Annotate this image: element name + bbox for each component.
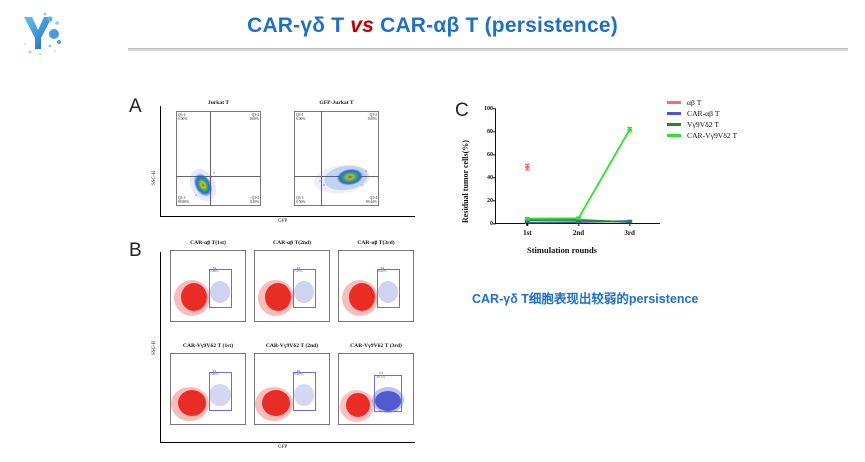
gate-p4 [293, 372, 317, 412]
flow-plot-title: CAR-αβ T(2nd) [254, 240, 330, 246]
chart-x-axis-label: Stimulation rounds [527, 245, 597, 255]
slide-caption: CAR-γδ T细胞表现出较弱的persistence [472, 288, 698, 307]
panel-b-label: B [129, 240, 142, 262]
legend-item: Vγ9Vδ2 T [667, 119, 737, 130]
gate-label: P4 7.60% [210, 370, 218, 377]
flow-plot-car-vd2-t-3rd: CAR-Vγ9Vδ2 T (3rd) P4 20.1% [338, 353, 414, 425]
flow-plot-title: CAR-αβ T(1st) [170, 240, 246, 246]
flow-plot-title: CAR-Vγ9Vδ2 T (3rd) [338, 343, 414, 349]
legend-label: Vγ9Vδ2 T [687, 120, 719, 129]
chart-plot-area: 0204060801001st2nd3rd [495, 109, 660, 224]
flow-plot-jurkat-t: Jurkat T Q3-1 0.00% Q3-2 0.00% Q3-3 99.8… [176, 111, 261, 206]
panel-a-x-axis-label: GFP [278, 219, 287, 224]
flow-plot-gfp-jurkat-t: GFP-Jurkat T Q3-1 0.06% Q3-2 0.00% Q3-3 … [294, 111, 379, 206]
panel-b-x-axis [160, 442, 415, 443]
panel-b-y-axis-label: SSC-H [152, 341, 157, 355]
gate-label: P4 7.89% [210, 267, 218, 274]
chart-y-tickmark [493, 154, 496, 155]
chart-y-tick: 100 [484, 106, 493, 112]
flow-plot-title: GFP-Jurkat T [294, 100, 379, 106]
flow-density-cloud [294, 111, 379, 206]
gate-p4 [209, 269, 232, 309]
chart-data-point [627, 128, 631, 131]
panel-a-y-axis [160, 106, 161, 216]
legend-item: CAR-αβ T [667, 108, 737, 119]
flow-plot-car-ab-t-1st: CAR-αβ T(1st) P4 7.89% [170, 250, 246, 322]
flow-plot-car-ab-t-2nd: CAR-αβ T(2nd) P4 7.05% [254, 250, 330, 322]
gate-p4 [374, 375, 401, 412]
flow-plot-title: CAR-αβ T(3rd) [338, 240, 414, 246]
chart-data-point [576, 217, 580, 220]
chart-y-tickmark [493, 177, 496, 178]
chart-y-tickmark [493, 108, 496, 109]
panel-b-y-axis [160, 252, 161, 442]
title-vs: vs [350, 14, 374, 37]
page-title: CAR-γδ T vs CAR-αβ T (persistence) [0, 14, 865, 38]
legend-item: αβ T [667, 97, 737, 108]
legend-swatch [667, 112, 681, 114]
legend-label: CAR-Vγ9Vδ2 T [687, 131, 737, 140]
panel-a-x-axis [160, 216, 415, 217]
panel-a-label: A [129, 96, 142, 118]
chart-x-tick: 3rd [624, 229, 635, 237]
chart-y-axis-label: Residual tumor cells(%) [461, 140, 470, 223]
chart-series-line [527, 130, 629, 219]
chart-series-layer [496, 109, 661, 224]
legend-swatch [667, 101, 681, 103]
legend-swatch [667, 134, 681, 136]
flow-density-cloud [176, 111, 261, 206]
flow-plot-title: CAR-Vγ9Vδ2 T (2nd) [254, 343, 330, 349]
flow-plot-title: Jurkat T [176, 100, 261, 106]
legend-label: CAR-αβ T [687, 109, 720, 118]
chart-legend: αβ TCAR-αβ TVγ9Vδ2 TCAR-Vγ9Vδ2 T [667, 97, 737, 141]
chart-data-point [525, 166, 529, 169]
flow-plot-car-vd2-t-1st: CAR-Vγ9Vδ2 T (1st) P4 7.60% [170, 353, 246, 425]
gate-p4 [293, 269, 316, 309]
title-text-post: CAR-αβ T (persistence) [374, 14, 618, 37]
chart-x-tickmark [578, 223, 579, 226]
chart-x-tickmark [527, 223, 528, 226]
flow-plot-title: CAR-Vγ9Vδ2 T (1st) [170, 343, 246, 349]
header-divider [128, 48, 848, 51]
flow-plot-car-ab-t-3rd: CAR-αβ T(3rd) P4 6.93% [338, 250, 414, 322]
gate-label: P4 7.05% [294, 267, 302, 274]
gate-p4 [209, 372, 233, 412]
chart-y-tickmark [493, 131, 496, 132]
legend-swatch [667, 123, 681, 125]
gate-label: P4 6.93% [378, 267, 386, 274]
title-text-pre: CAR-γδ T [247, 14, 350, 37]
gate-p4 [377, 269, 400, 309]
gate-label: P4 5.60% [294, 370, 302, 377]
chart-x-tick: 1st [523, 229, 532, 237]
chart-data-point [525, 217, 529, 220]
chart-x-tick: 2nd [573, 229, 584, 237]
chart-y-tickmark [493, 223, 496, 224]
legend-item: CAR-Vγ9Vδ2 T [667, 130, 737, 141]
panel-b-x-axis-label: GFP [278, 445, 287, 450]
chart-x-tickmark [629, 223, 630, 226]
legend-label: αβ T [687, 98, 701, 107]
gate-label: P4 20.1% [377, 372, 385, 379]
persistence-chart: Residual tumor cells(%) 0204060801001st2… [455, 95, 775, 260]
panel-a-y-axis-label: SSC-H [152, 171, 157, 185]
flow-plot-car-vd2-t-2nd: CAR-Vγ9Vδ2 T (2nd) P4 5.60% [254, 353, 330, 425]
chart-y-tickmark [493, 200, 496, 201]
